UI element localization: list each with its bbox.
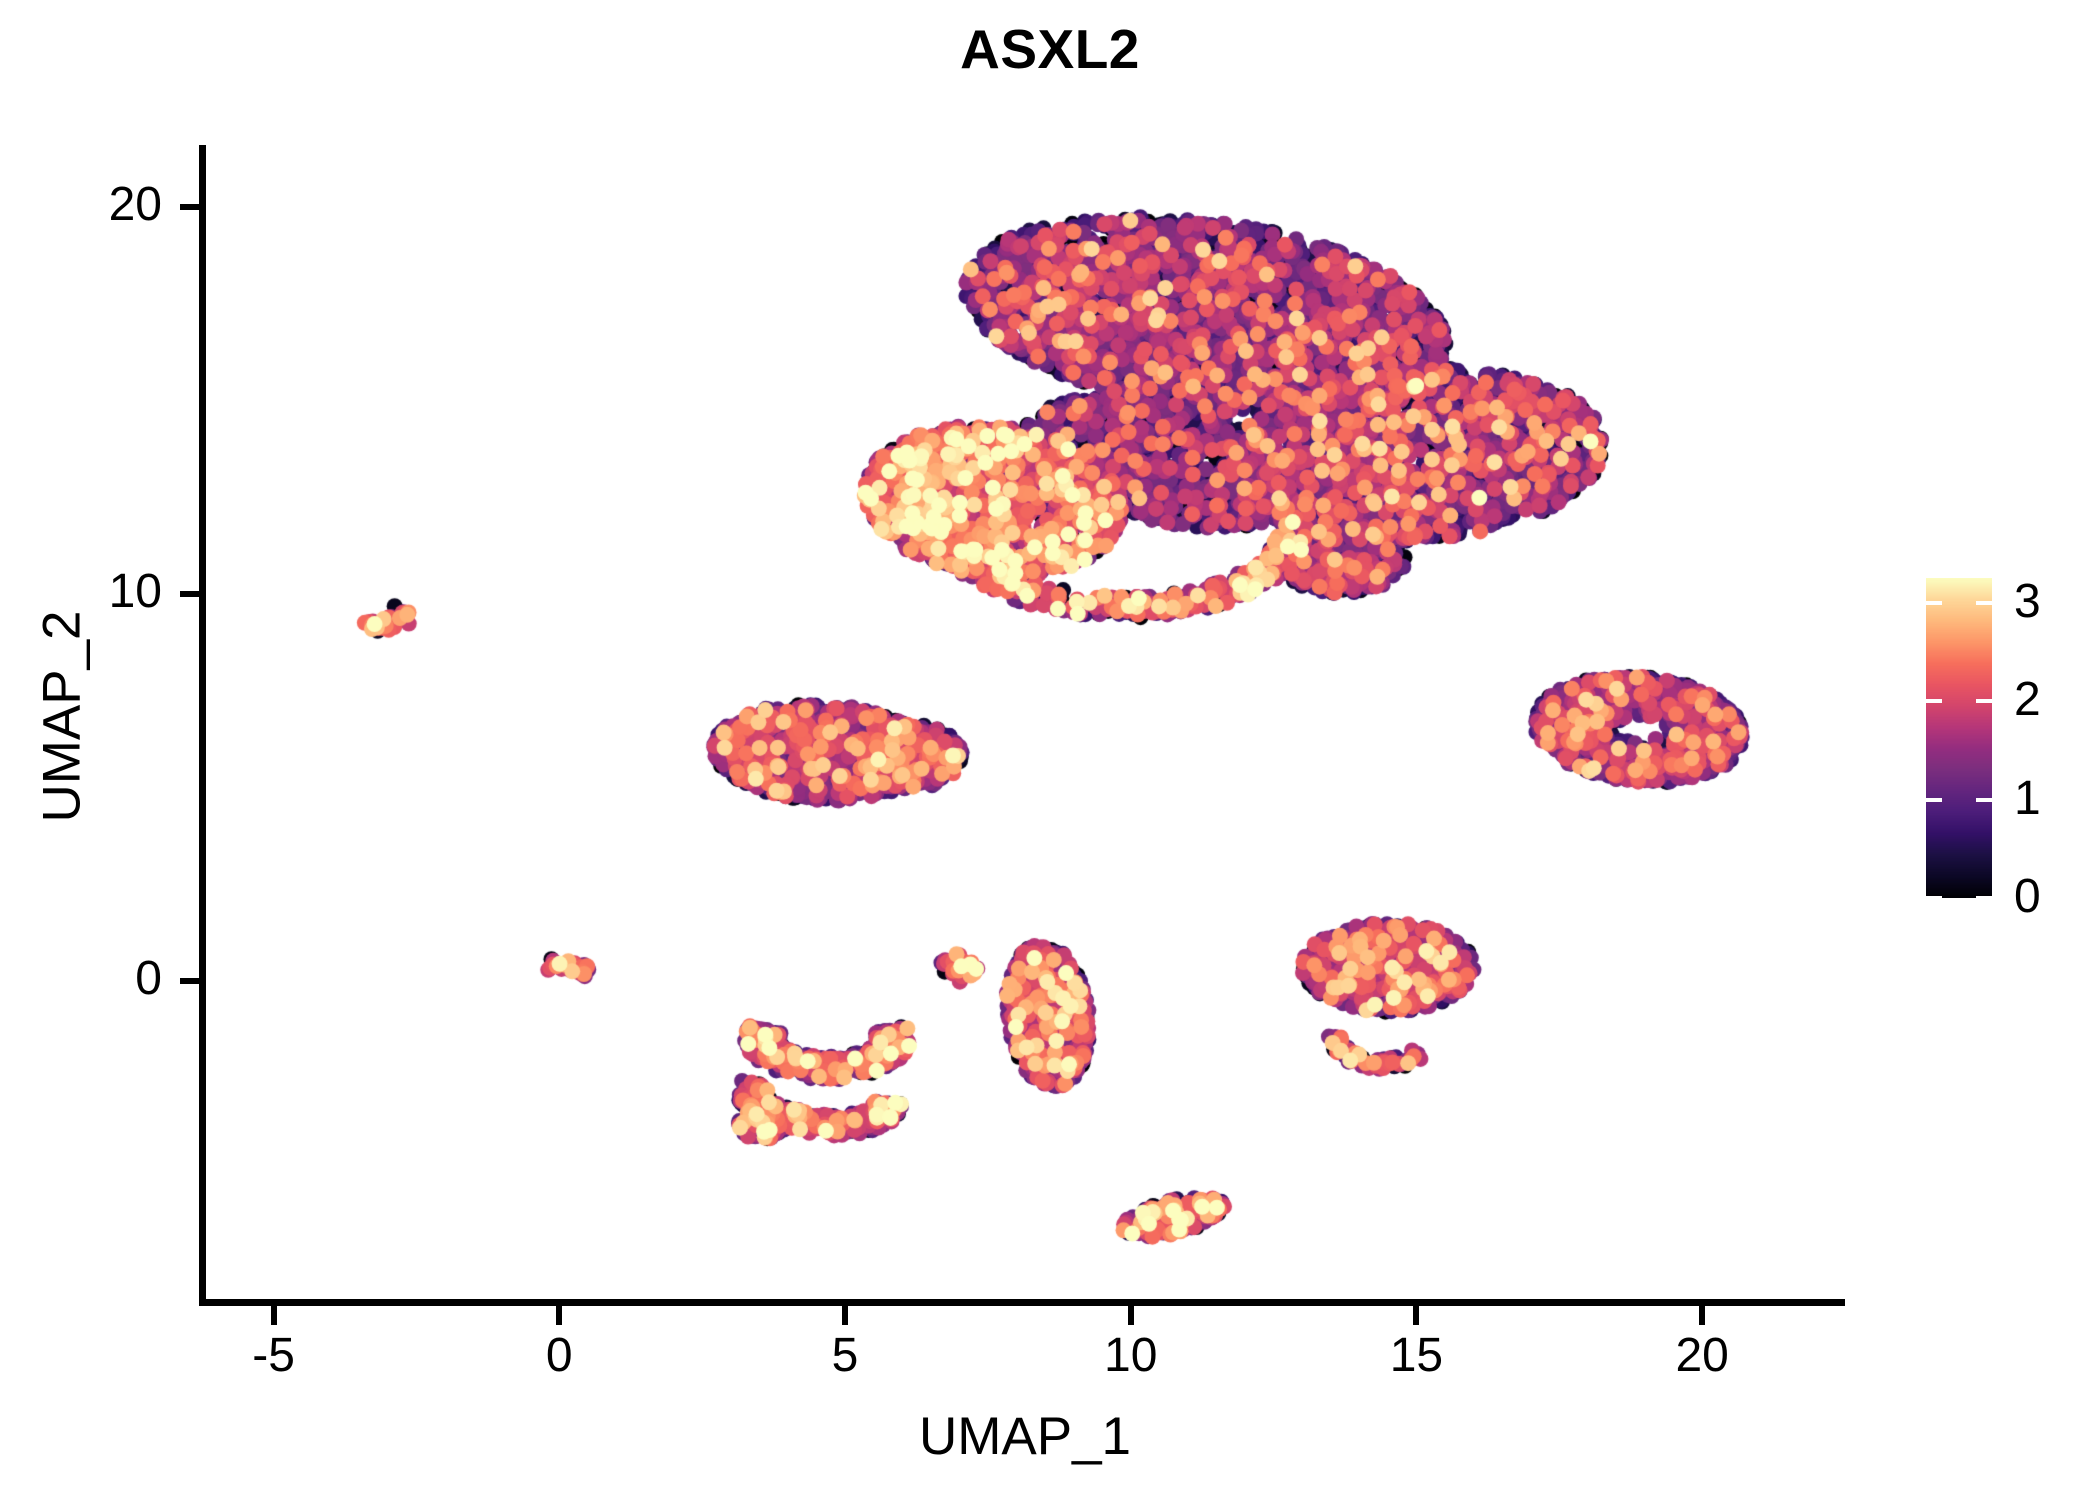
x-tick-mark <box>1128 1306 1134 1325</box>
x-tick-label: 0 <box>459 1332 659 1380</box>
colorbar-tick-mark <box>1926 601 1992 605</box>
y-tick-mark <box>180 978 199 984</box>
colorbar-tick-mark <box>1926 798 1992 802</box>
x-tick-label: 10 <box>1031 1332 1231 1380</box>
y-tick-mark <box>180 204 199 210</box>
plot-panel <box>205 145 1845 1302</box>
x-tick-mark <box>556 1306 562 1325</box>
y-axis-title: UMAP_2 <box>36 337 89 1097</box>
x-tick-mark <box>842 1306 848 1325</box>
umap-feature-plot: ASXL2 01020 -505101520 UMAP_1 UMAP_2 012… <box>0 0 2100 1500</box>
x-tick-mark <box>271 1306 277 1325</box>
x-axis-title: UMAP_1 <box>205 1410 1845 1463</box>
colorbar-tick-label: 1 <box>2014 775 2100 823</box>
colorbar-tick-label: 2 <box>2014 676 2100 724</box>
colorbar-tick-mark <box>1926 699 1992 703</box>
x-tick-mark <box>1413 1306 1419 1325</box>
colorbar-gradient <box>1926 578 1992 898</box>
colorbar-tick-mark <box>1926 896 1992 900</box>
page-title: ASXL2 <box>0 22 2100 77</box>
y-tick-mark <box>180 591 199 597</box>
x-tick-label: -5 <box>174 1332 374 1380</box>
x-tick-label: 15 <box>1316 1332 1516 1380</box>
x-tick-mark <box>1699 1306 1705 1325</box>
x-tick-label: 5 <box>745 1332 945 1380</box>
y-tick-label: 20 <box>12 181 162 229</box>
y-axis-line <box>199 145 206 1305</box>
scatter-plot-canvas <box>205 145 1845 1302</box>
colorbar-tick-label: 3 <box>2014 578 2100 626</box>
colorbar-tick-label: 0 <box>2014 873 2100 921</box>
x-axis-line <box>199 1299 1845 1306</box>
x-tick-label: 20 <box>1602 1332 1802 1380</box>
